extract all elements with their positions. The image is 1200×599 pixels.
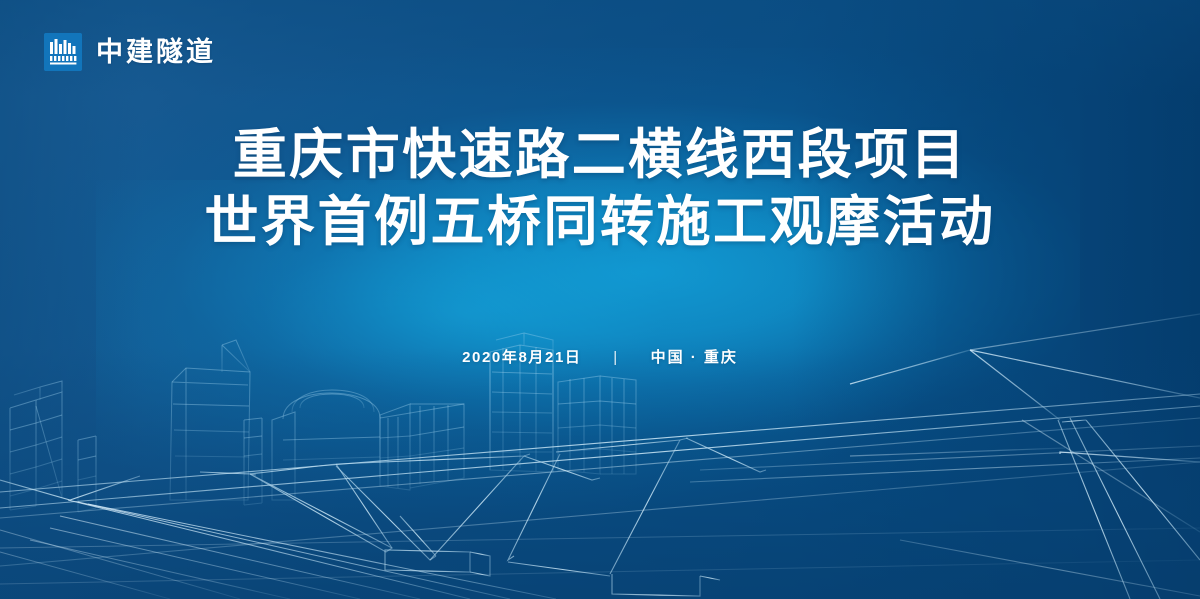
- event-date: 2020年8月21日: [462, 349, 581, 366]
- title-line-1: 重庆市快速路二横线西段项目: [0, 122, 1200, 189]
- event-location: 中国 · 重庆: [651, 349, 738, 366]
- cscec-logo-icon: [44, 33, 82, 71]
- brand-name: 中建隧道: [96, 39, 216, 66]
- background-vignette-bottom: [0, 347, 1200, 599]
- brand-logo: 中建隧道: [44, 33, 216, 71]
- banner-poster: 中建隧道 重庆市快速路二横线西段项目 世界首例五桥同转施工观摩活动 2020年8…: [0, 0, 1200, 599]
- poster-title: 重庆市快速路二横线西段项目 世界首例五桥同转施工观摩活动: [0, 122, 1200, 256]
- poster-subtitle: 2020年8月21日 | 中国 · 重庆: [0, 346, 1200, 367]
- title-line-2: 世界首例五桥同转施工观摩活动: [0, 189, 1200, 256]
- subtitle-separator: |: [613, 349, 619, 366]
